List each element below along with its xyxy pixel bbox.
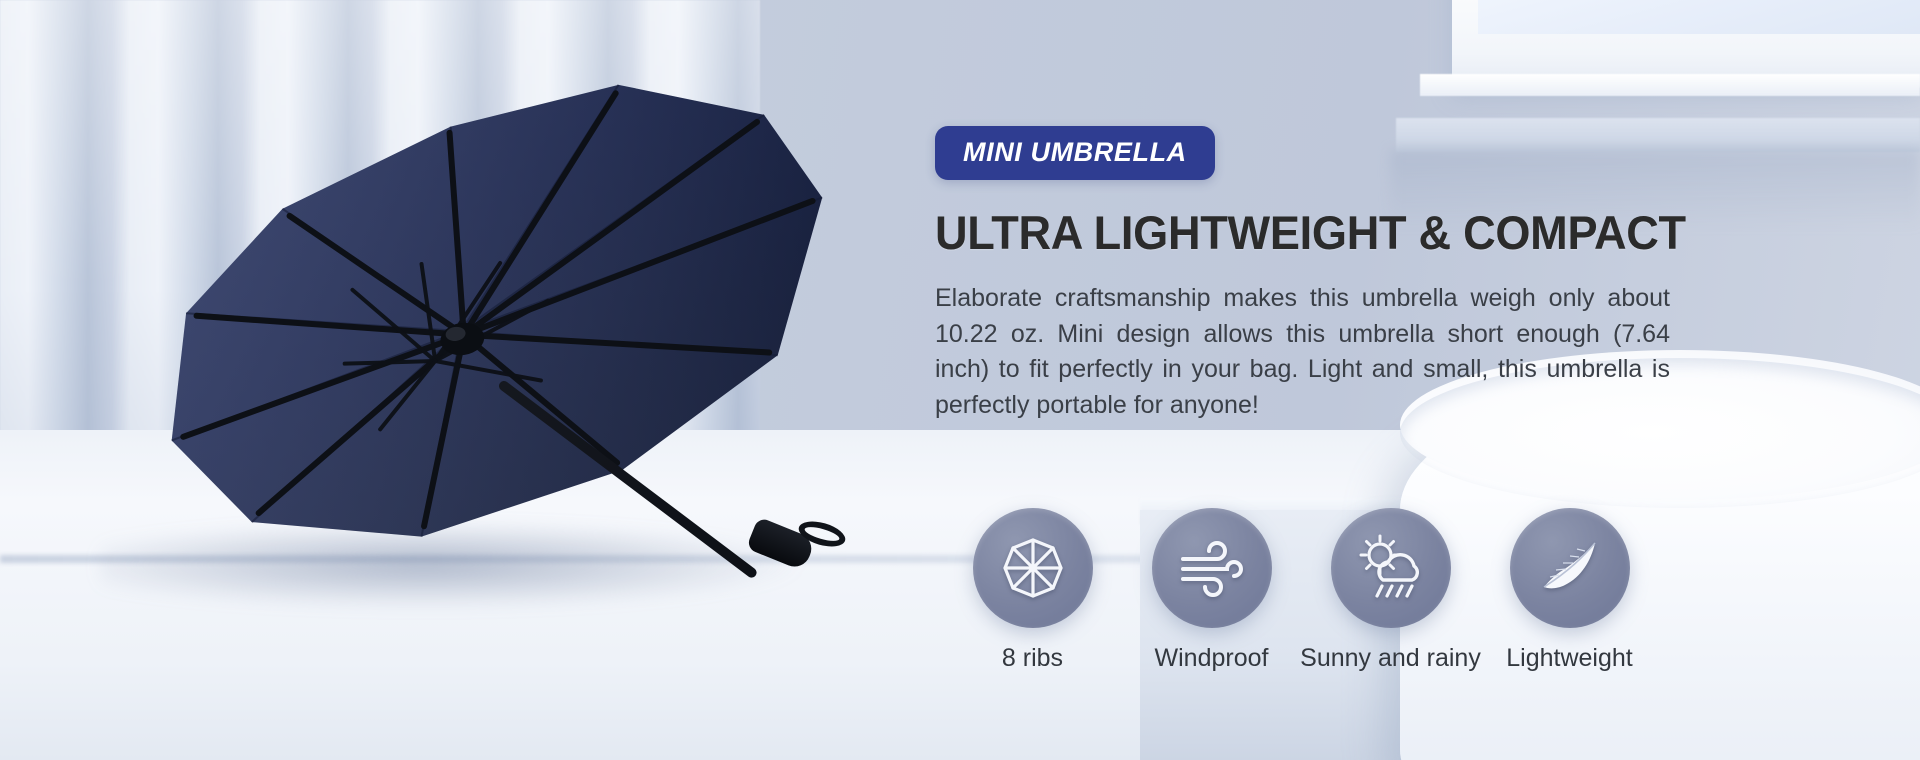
feature-item-sunny-and-rainy: Sunny and rainy <box>1313 508 1468 673</box>
feature-item-windproof: Windproof <box>1134 508 1289 673</box>
window-sill <box>1420 74 1920 96</box>
copy-block: MINI UMBRELLA ULTRA LIGHTWEIGHT & COMPAC… <box>935 126 1705 423</box>
feature-circle <box>1331 508 1451 628</box>
page-title: ULTRA LIGHTWEIGHT & COMPACT <box>935 208 1674 257</box>
mini-umbrella-badge: MINI UMBRELLA <box>935 126 1215 180</box>
feature-label: Windproof <box>1155 644 1269 673</box>
feature-label: 8 ribs <box>1002 644 1063 673</box>
sun-cloud-rain-icon <box>1353 530 1429 606</box>
description-text: Elaborate craftsmanship makes this umbre… <box>935 281 1670 423</box>
window-glass <box>1478 0 1920 34</box>
umbrella-canopy <box>102 47 878 593</box>
feature-circle <box>1510 508 1630 628</box>
umbrella-product-image <box>130 95 890 615</box>
description-block: Elaborate craftsmanship makes this umbre… <box>935 281 1670 423</box>
feature-item-8-ribs: 8 ribs <box>955 508 1110 673</box>
feature-label: Lightweight <box>1506 644 1632 673</box>
feature-circle <box>973 508 1093 628</box>
wind-icon <box>1175 531 1249 605</box>
feature-item-lightweight: Lightweight <box>1492 508 1647 673</box>
feather-icon <box>1533 531 1607 605</box>
product-banner: MINI UMBRELLA ULTRA LIGHTWEIGHT & COMPAC… <box>0 0 1920 760</box>
feature-list: 8 ribs Windproof <box>955 508 1647 673</box>
feature-label: Sunny and rainy <box>1300 644 1481 673</box>
umbrella-ribs-icon <box>997 532 1069 604</box>
feature-circle <box>1152 508 1272 628</box>
